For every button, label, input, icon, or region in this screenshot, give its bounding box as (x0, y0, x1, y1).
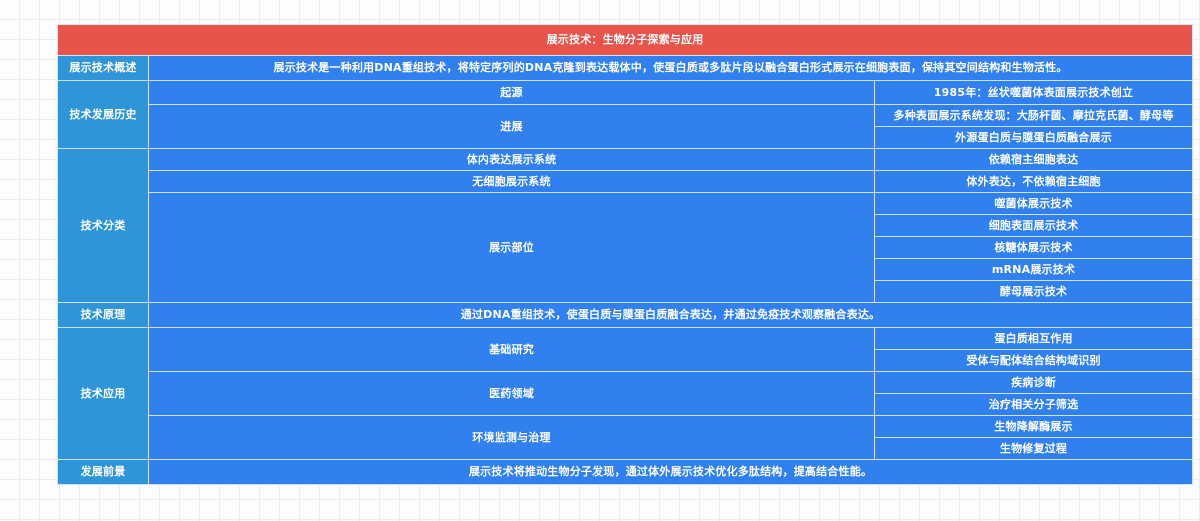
table-row: 技术分类 体内表达展示系统 依赖宿主细胞表达 (58, 149, 1193, 171)
category-history[interactable]: 技术发展历史 (58, 81, 149, 149)
category-principle[interactable]: 技术原理 (58, 303, 149, 328)
table-row: 进展 多种表面展示系统发现：大肠杆菌、摩拉克氏菌、酵母等 (58, 105, 1193, 127)
table-row: 展示技术概述 展示技术是一种利用DNA重组技术，将特定序列的DNA克隆到表达载体… (58, 56, 1193, 81)
category-overview[interactable]: 展示技术概述 (58, 56, 149, 81)
history-progress-label: 进展 (149, 105, 875, 149)
history-origin-detail: 1985年：丝状噬菌体表面展示技术创立 (875, 81, 1193, 105)
table-row: 技术原理 通过DNA重组技术，使蛋白质与膜蛋白质融合表达，并通过免疫技术观察融合… (58, 303, 1193, 328)
table-row: 展示技术：生物分子探索与应用 (58, 25, 1193, 56)
page-title: 展示技术：生物分子探索与应用 (58, 25, 1193, 56)
classification-in-vivo-label: 体内表达展示系统 (149, 149, 875, 171)
category-prospect[interactable]: 发展前景 (58, 460, 149, 485)
classification-site-detail: 细胞表面展示技术 (875, 215, 1193, 237)
application-medicine-label: 医药领域 (149, 372, 875, 416)
application-environment-detail: 生物降解酶展示 (875, 416, 1193, 438)
application-basic-detail: 受体与配体结合结构域识别 (875, 350, 1193, 372)
table-row: 展示部位 噬菌体展示技术 (58, 193, 1193, 215)
application-medicine-detail: 治疗相关分子筛选 (875, 394, 1193, 416)
mind-map-table-sheet: 展示技术：生物分子探索与应用 展示技术概述 展示技术是一种利用DNA重组技术，将… (57, 24, 1192, 485)
table-row: 环境监测与治理 生物降解酶展示 (58, 416, 1193, 438)
prospect-text: 展示技术将推动生物分子发现，通过体外展示技术优化多肽结构，提高结合性能。 (149, 460, 1193, 485)
classification-site-detail: 噬菌体展示技术 (875, 193, 1193, 215)
application-basic-label: 基础研究 (149, 328, 875, 372)
classification-in-vivo-detail: 依赖宿主细胞表达 (875, 149, 1193, 171)
category-application[interactable]: 技术应用 (58, 328, 149, 460)
table-row: 医药领域 疾病诊断 (58, 372, 1193, 394)
history-progress-detail-1: 多种表面展示系统发现：大肠杆菌、摩拉克氏菌、酵母等 (875, 105, 1193, 127)
category-classification[interactable]: 技术分类 (58, 149, 149, 303)
application-environment-detail: 生物修复过程 (875, 438, 1193, 460)
classification-cell-free-detail: 体外表达，不依赖宿主细胞 (875, 171, 1193, 193)
classification-site-detail: 核糖体展示技术 (875, 237, 1193, 259)
table-row: 无细胞展示系统 体外表达，不依赖宿主细胞 (58, 171, 1193, 193)
application-environment-label: 环境监测与治理 (149, 416, 875, 460)
application-medicine-detail: 疾病诊断 (875, 372, 1193, 394)
overview-text: 展示技术是一种利用DNA重组技术，将特定序列的DNA克隆到表达载体中，使蛋白质或… (149, 56, 1193, 81)
table-row: 技术发展历史 起源 1985年：丝状噬菌体表面展示技术创立 (58, 81, 1193, 105)
principle-text: 通过DNA重组技术，使蛋白质与膜蛋白质融合表达，并通过免疫技术观察融合表达。 (149, 303, 1193, 328)
application-basic-detail: 蛋白质相互作用 (875, 328, 1193, 350)
history-origin-label: 起源 (149, 81, 875, 105)
classification-site-detail: 酵母展示技术 (875, 281, 1193, 303)
history-progress-detail-2: 外源蛋白质与膜蛋白质融合展示 (875, 127, 1193, 149)
table-row: 技术应用 基础研究 蛋白质相互作用 (58, 328, 1193, 350)
display-technology-matrix: 展示技术：生物分子探索与应用 展示技术概述 展示技术是一种利用DNA重组技术，将… (57, 24, 1193, 485)
classification-cell-free-label: 无细胞展示系统 (149, 171, 875, 193)
table-row: 发展前景 展示技术将推动生物分子发现，通过体外展示技术优化多肽结构，提高结合性能… (58, 460, 1193, 485)
classification-site-label: 展示部位 (149, 193, 875, 303)
classification-site-detail: mRNA展示技术 (875, 259, 1193, 281)
